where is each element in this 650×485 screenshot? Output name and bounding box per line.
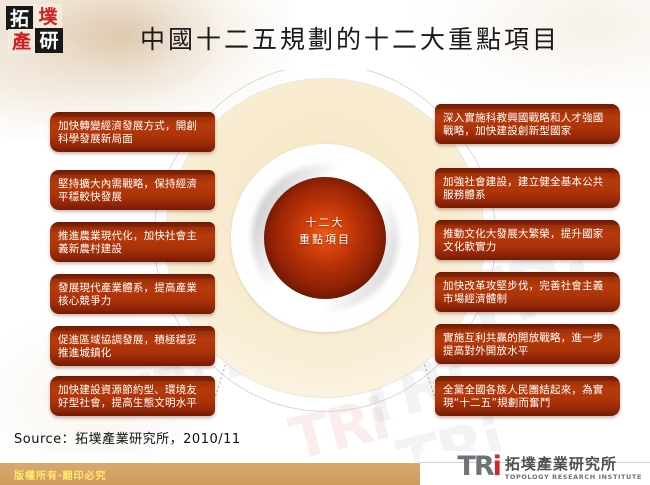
item-label: 推動文化大發展大繁榮，提升國家文化軟實力: [443, 227, 612, 254]
tri-wordmark: TRi: [457, 453, 499, 480]
item-box-left-6[interactable]: 加快建設資源節約型、環境友好型社會，提高生態文明水平: [50, 376, 215, 416]
tri-name-en: TOPOLOGY RESEARCH INSTITUTE: [505, 474, 642, 481]
item-label: 促進區域協調發展，積極穩妥推進城鎮化: [58, 333, 207, 360]
tri-name-cn: 拓墣產業研究所: [505, 457, 642, 472]
item-box-left-2[interactable]: 堅持擴大內需戰略，保持經濟平穩較快發展: [50, 170, 215, 210]
footer-logo-area: TRi 拓墣產業研究所 TOPOLOGY RESEARCH INSTITUTE: [420, 451, 650, 485]
item-label: 加快轉變經濟發展方式，開創科學發展新局面: [58, 119, 207, 146]
radial-diagram: 十二大 重點項目 加快轉變經濟發展方式，開創科學發展新局面 堅持擴大內需戰略，保…: [0, 70, 650, 415]
item-box-right-6[interactable]: 全黨全國各族人民團結起來，為實現“十二五”規劃而奮鬥: [435, 376, 620, 416]
item-box-left-5[interactable]: 促進區域協調發展，積極穩妥推進城鎮化: [50, 326, 215, 366]
center-line-1: 十二大: [264, 214, 386, 231]
item-label: 深入實施科教興國戰略和人才強國戰略，加快建設創新型國家: [443, 111, 612, 138]
item-box-right-4[interactable]: 加快改革攻堅步伐，完善社會主義市場經濟體制: [435, 272, 620, 312]
stamp-char-3: 產: [8, 29, 35, 54]
item-box-right-1[interactable]: 深入實施科教興國戰略和人才強國戰略，加快建設創新型國家: [435, 104, 620, 144]
item-box-right-2[interactable]: 加強社會建設，建立健全基本公共服務體系: [435, 168, 620, 208]
center-core-label: 十二大 重點項目: [264, 214, 386, 248]
source-note: Source：拓墣產業研究所，2010/11: [14, 428, 241, 447]
company-stamp-logo: 拓 墣 產 研: [6, 4, 64, 54]
center-line-2: 重點項目: [264, 231, 386, 248]
tri-name-block: 拓墣產業研究所 TOPOLOGY RESEARCH INSTITUTE: [505, 457, 642, 481]
item-box-right-5[interactable]: 實施互利共贏的開放戰略，進一步提高對外開放水平: [435, 324, 620, 364]
item-box-right-3[interactable]: 推動文化大發展大繁榮，提升國家文化軟實力: [435, 220, 620, 260]
stamp-char-2: 墣: [34, 4, 62, 29]
item-label: 全黨全國各族人民團結起來，為實現“十二五”規劃而奮鬥: [443, 383, 612, 410]
tri-wordmark-tr: TR: [457, 451, 492, 482]
copyright-bar: 版權所有‧翻印必究: [0, 463, 430, 485]
item-label: 加快建設資源節約型、環境友好型社會，提高生態文明水平: [58, 383, 207, 410]
item-label: 實施互利共贏的開放戰略，進一步提高對外開放水平: [443, 331, 612, 358]
item-label: 加快改革攻堅步伐，完善社會主義市場經濟體制: [443, 279, 612, 306]
item-label: 推進農業現代化，加快社會主義新農村建設: [58, 229, 207, 256]
stamp-char-4: 研: [35, 28, 63, 53]
item-box-left-4[interactable]: 發展現代產業體系，提高產業核心競爭力: [50, 274, 215, 314]
item-box-left-3[interactable]: 推進農業現代化，加快社會主義新農村建設: [50, 222, 215, 262]
tri-logo: TRi 拓墣產業研究所 TOPOLOGY RESEARCH INSTITUTE: [457, 453, 642, 480]
item-label: 發展現代產業體系，提高產業核心競爭力: [58, 281, 207, 308]
copyright-text: 版權所有‧翻印必究: [14, 467, 106, 482]
item-label: 加強社會建設，建立健全基本公共服務體系: [443, 175, 612, 202]
item-label: 堅持擴大內需戰略，保持經濟平穩較快發展: [58, 177, 207, 204]
tri-wordmark-i: i: [493, 451, 500, 482]
slide-canvas: TRi TRi TRi TRi TRi TRi 拓 墣 產 研 中國十二五規劃的…: [0, 0, 650, 485]
item-box-left-1[interactable]: 加快轉變經濟發展方式，開創科學發展新局面: [50, 112, 215, 152]
stamp-char-1: 拓: [6, 6, 33, 30]
page-title: 中國十二五規劃的十二大重點項目: [110, 20, 590, 56]
